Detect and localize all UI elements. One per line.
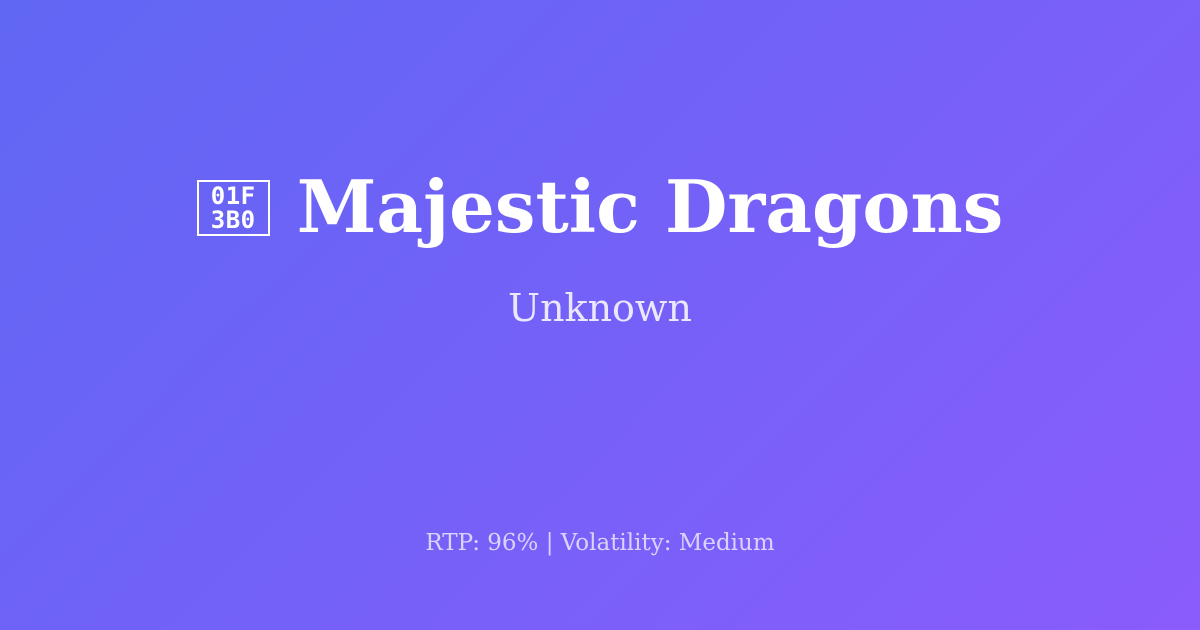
tofu-codepoint-bottom: 3B0 [211,208,256,232]
slot-machine-icon: 01F 3B0 [197,180,270,236]
page-title: Majestic Dragons [297,168,1004,246]
card-hero: 01F 3B0 Majestic Dragons Unknown [0,0,1200,498]
title-row: 01F 3B0 Majestic Dragons [197,168,1004,246]
game-meta-line: RTP: 96% | Volatility: Medium [0,528,1200,558]
card-subtitle: Unknown [508,286,692,330]
og-share-card: 01F 3B0 Majestic Dragons Unknown RTP: 96… [0,0,1200,630]
tofu-codepoint-top: 01F [211,184,256,208]
